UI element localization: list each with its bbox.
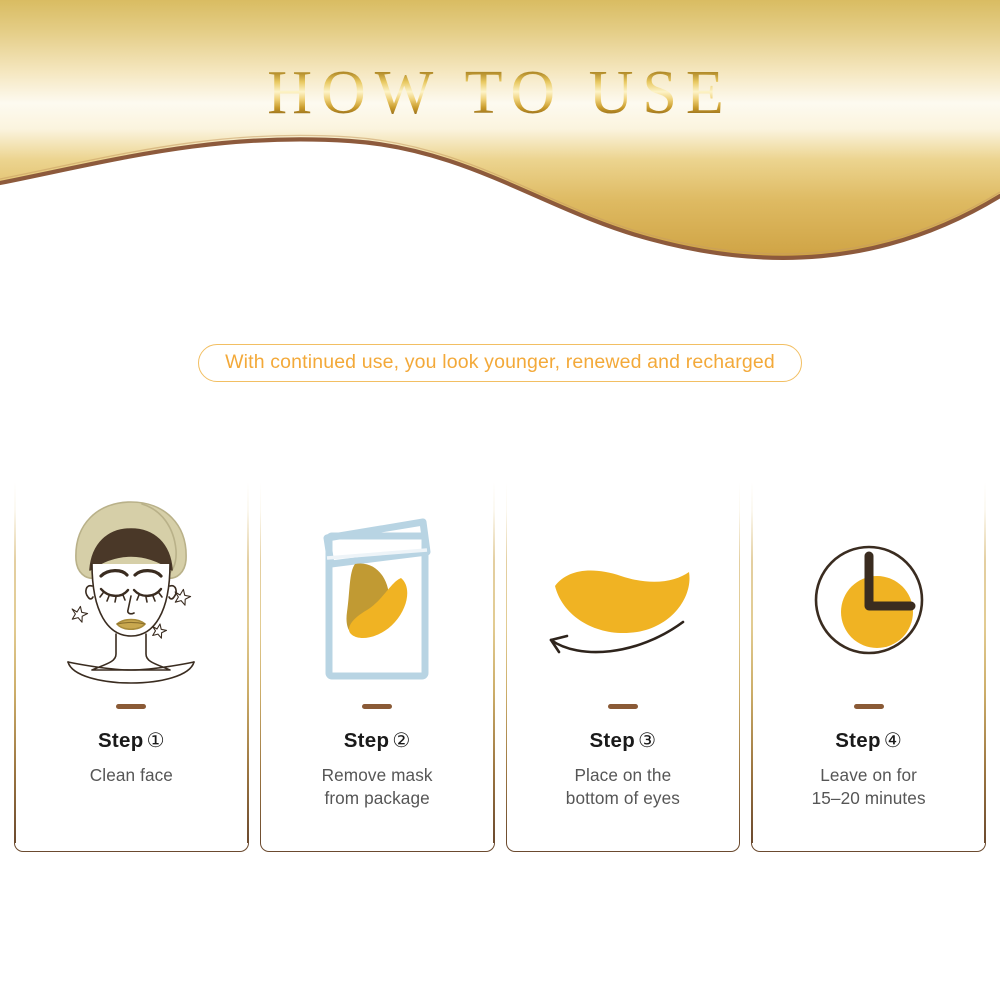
page-title: HOW TO USE: [0, 62, 1000, 124]
tagline-container: With continued use, you look younger, re…: [0, 344, 1000, 382]
step-3-label-text: Step: [589, 729, 635, 752]
step-1-description: Clean face: [90, 764, 173, 787]
step-card-2[interactable]: Step② Remove mask from package: [260, 482, 495, 852]
card-bottom-border: [14, 843, 249, 852]
step-2-label-text: Step: [344, 729, 390, 752]
step-2-description: Remove mask from package: [322, 764, 433, 810]
step-1-label-text: Step: [98, 729, 144, 752]
step-divider: [608, 704, 638, 709]
step-2-art: [260, 482, 495, 700]
tagline-pill: With continued use, you look younger, re…: [198, 344, 802, 382]
eye-patch-shape: [555, 571, 690, 634]
step-2-number: ②: [392, 730, 410, 752]
step-1-art: [14, 482, 249, 700]
step-1-label: Step①: [98, 728, 165, 753]
woman-face-towel-icon: [46, 494, 216, 694]
step-3-label: Step③: [589, 728, 656, 753]
step-card-3[interactable]: Step③ Place on the bottom of eyes: [506, 482, 741, 852]
header-wave-shape: [0, 0, 1000, 262]
sparkle-star-icon: [72, 606, 88, 622]
clock-gold-disc: [841, 576, 913, 648]
sparkle-star-icon: [175, 589, 190, 605]
step-divider: [362, 704, 392, 709]
clock-icon: [799, 494, 939, 694]
step-card-4[interactable]: Step④ Leave on for 15–20 minutes: [751, 482, 986, 852]
card-bottom-border: [751, 843, 986, 852]
steps-row: Step① Clean face Step② Remove mask from …: [14, 482, 986, 852]
card-bottom-border: [260, 843, 495, 852]
header-gold-fill: [0, 0, 1000, 258]
header-banner: HOW TO USE: [0, 0, 1000, 262]
sparkle-star-icon: [153, 624, 167, 638]
step-4-description: Leave on for 15–20 minutes: [812, 764, 926, 810]
step-divider: [854, 704, 884, 709]
step-3-description: Place on the bottom of eyes: [566, 764, 680, 810]
step-3-art: [506, 482, 741, 700]
step-card-1[interactable]: Step① Clean face: [14, 482, 249, 852]
eye-patch-arrow-icon: [533, 494, 713, 694]
step-4-art: [751, 482, 986, 700]
step-3-number: ③: [638, 730, 656, 752]
step-divider: [116, 704, 146, 709]
step-2-label: Step②: [344, 728, 411, 753]
card-bottom-border: [506, 843, 741, 852]
step-4-number: ④: [884, 730, 902, 752]
step-4-label-text: Step: [835, 729, 881, 752]
mask-package-icon: [297, 494, 457, 694]
step-4-label: Step④: [835, 728, 902, 753]
step-1-number: ①: [147, 730, 165, 752]
